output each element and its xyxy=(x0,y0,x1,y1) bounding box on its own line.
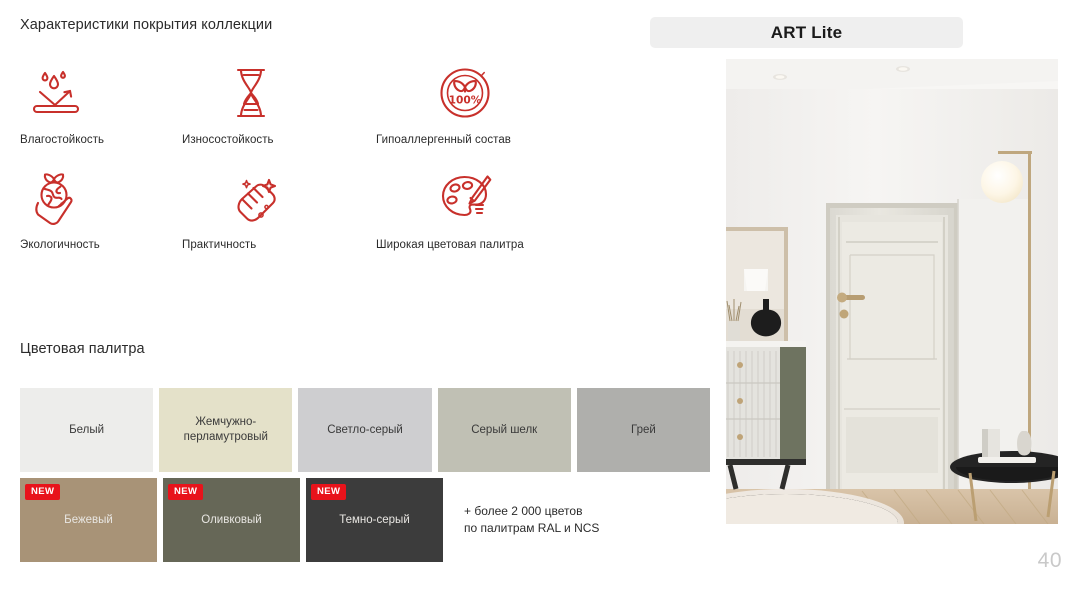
feature-label: Износостойкость xyxy=(182,134,274,146)
new-badge: NEW xyxy=(311,484,346,500)
feature-item-wide-color-palette: Широкая цветовая палитра xyxy=(388,171,580,276)
page-number: 40 xyxy=(1038,549,1062,573)
color-swatch-dark-gray[interactable]: NEW Темно-серый xyxy=(306,478,443,562)
color-swatch-white[interactable]: Белый xyxy=(20,388,153,472)
hourglass-icon xyxy=(228,66,292,122)
swatch-label: Бежевый xyxy=(58,513,119,528)
hand-holding-earth-icon xyxy=(26,171,90,227)
palette-row-2: NEW Бежевый NEW Оливковый NEW Темно-серы… xyxy=(20,478,710,562)
collection-title-text: ART Lite xyxy=(771,23,842,43)
swatch-label: Темно-серый xyxy=(333,513,416,528)
color-swatch-pearl[interactable]: Жемчужно- перламутровый xyxy=(159,388,292,472)
interior-photo-illustration xyxy=(726,59,1058,524)
features-grid: Влагостойкость Износостойкость xyxy=(20,66,580,276)
swatch-label: Серый шелк xyxy=(465,423,543,438)
color-swatch-olive[interactable]: NEW Оливковый xyxy=(163,478,300,562)
palette-row-1: Белый Жемчужно- перламутровый Светло-сер… xyxy=(20,388,710,472)
swatch-label: Светло-серый xyxy=(321,423,409,438)
right-content-column: ART Lite xyxy=(650,0,1082,591)
feature-label: Широкая цветовая палитра xyxy=(376,239,524,251)
swatch-label: Жемчужно- перламутровый xyxy=(159,415,292,445)
new-badge: NEW xyxy=(25,484,60,500)
hundred-percent-leaf-icon: 100% xyxy=(438,66,502,122)
palette-section-title: Цветовая палитра xyxy=(20,341,145,357)
collection-title-pill: ART Lite xyxy=(650,17,963,48)
color-palette: Белый Жемчужно- перламутровый Светло-сер… xyxy=(20,388,710,562)
slide-root: Характеристики покрытия коллекции Влагос xyxy=(0,0,1082,591)
feature-item-hypoallergenic: 100% Гипоаллергенный состав xyxy=(388,66,580,171)
feature-label: Экологичность xyxy=(20,239,100,251)
feature-item-ecology: Экологичность xyxy=(20,171,204,276)
features-section-title: Характеристики покрытия коллекции xyxy=(20,17,272,33)
color-swatch-light-gray[interactable]: Светло-серый xyxy=(298,388,431,472)
water-drop-repellent-icon xyxy=(26,66,90,122)
cleaning-cloth-sparkle-icon xyxy=(228,171,292,227)
feature-item-moisture-resistance: Влагостойкость xyxy=(20,66,204,171)
feature-label: Влагостойкость xyxy=(20,134,104,146)
paint-palette-brush-icon xyxy=(438,171,502,227)
interior-photo xyxy=(726,59,1058,524)
left-content-column: Характеристики покрытия коллекции Влагос xyxy=(0,0,710,591)
swatch-label: Оливковый xyxy=(195,513,267,528)
new-badge: NEW xyxy=(168,484,203,500)
feature-label: Практичность xyxy=(182,239,256,251)
svg-text:100%: 100% xyxy=(449,94,482,106)
color-swatch-beige[interactable]: NEW Бежевый xyxy=(20,478,157,562)
swatch-label: Белый xyxy=(63,423,110,438)
feature-item-wear-resistance: Износостойкость xyxy=(204,66,388,171)
feature-label: Гипоаллергенный состав xyxy=(376,134,511,146)
color-swatch-silk-gray[interactable]: Серый шелк xyxy=(438,388,571,472)
feature-item-practicality: Практичность xyxy=(204,171,388,276)
